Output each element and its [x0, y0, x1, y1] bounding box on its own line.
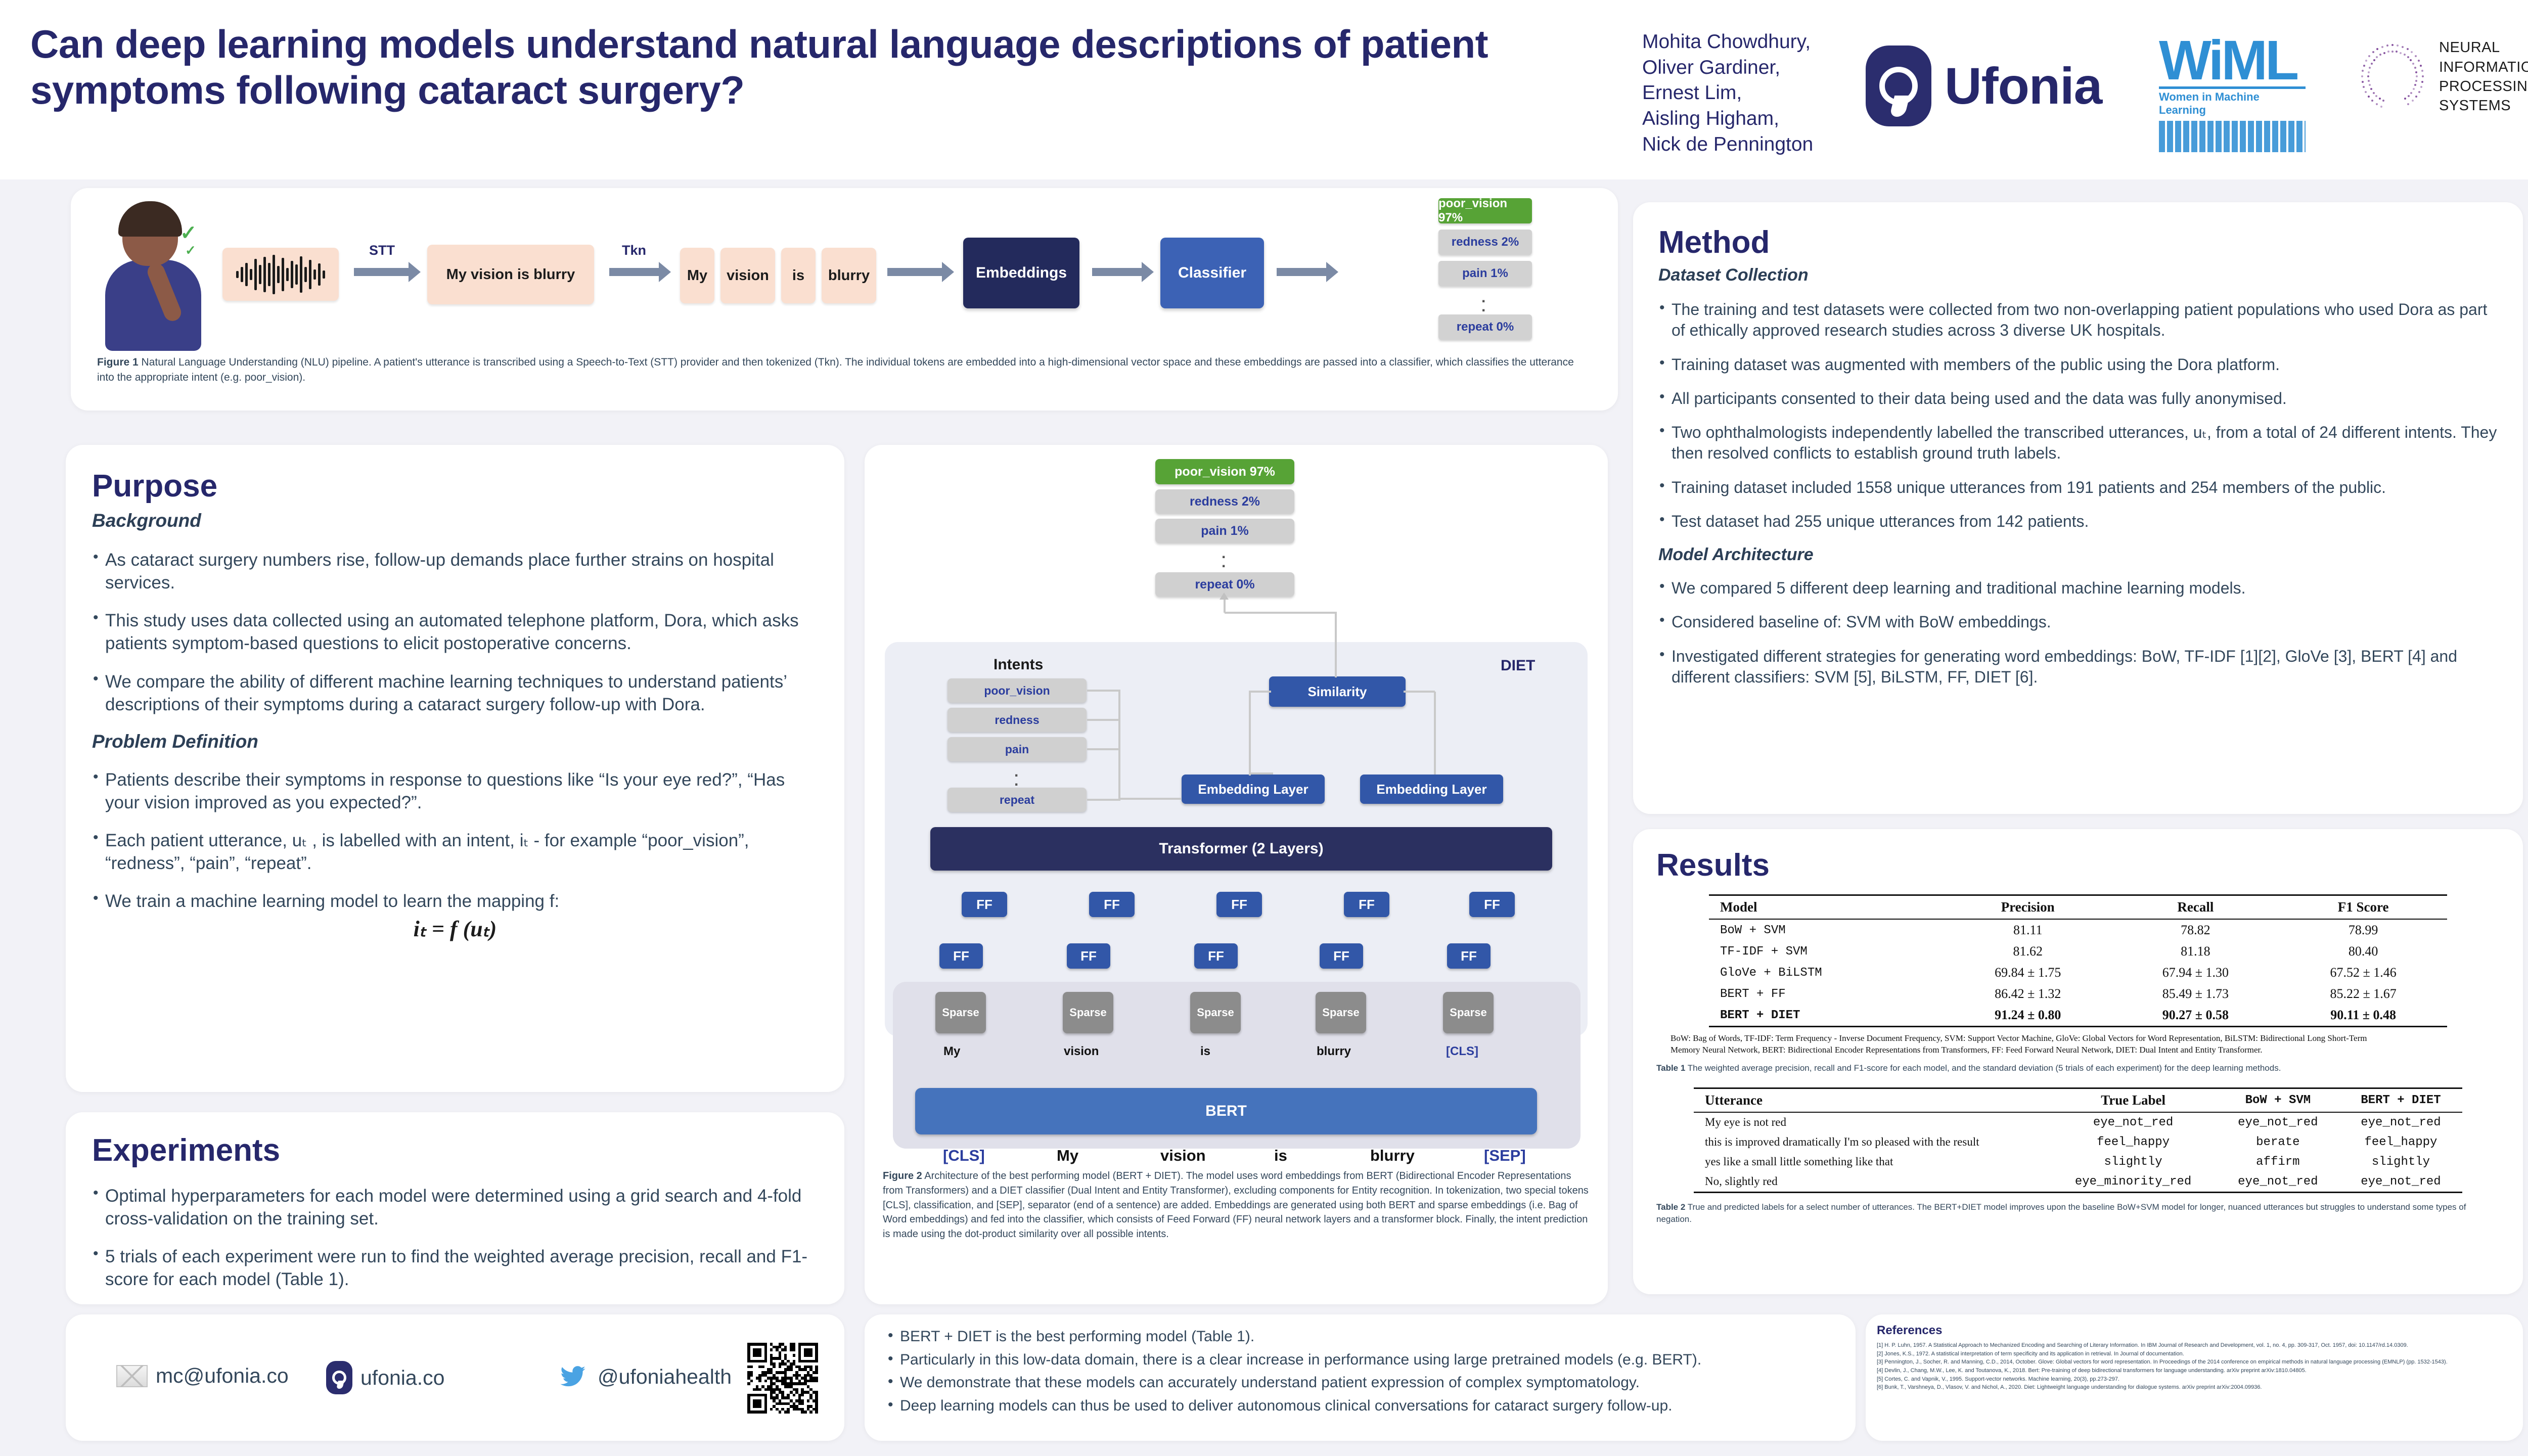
ff-box: FF: [1067, 943, 1110, 969]
sparse-box: Sparse: [935, 992, 986, 1033]
cell-bow-pred: eye_not_red: [2217, 1112, 2339, 1132]
table-row: My eye is not red eye_not_red eye_not_re…: [1694, 1112, 2462, 1132]
cell-f1: 80.40: [2279, 941, 2447, 962]
table-row: TF-IDF + SVM 81.62 81.18 80.40: [1709, 941, 2447, 962]
sparse-box: Sparse: [1190, 992, 1241, 1033]
mid-token-label: vision: [1064, 1044, 1099, 1059]
th-f1: F1 Score: [2279, 895, 2447, 920]
th-true-label: True Label: [2050, 1088, 2217, 1112]
experiments-card: Experiments Optimal hyperparameters for …: [66, 1112, 844, 1304]
model-architecture-heading: Model Architecture: [1658, 545, 2498, 565]
author-list: Mohita Chowdhury, Oliver Gardiner, Ernes…: [1642, 29, 1855, 157]
cell-precision: 81.11: [1944, 919, 2112, 941]
table1-caption-text: The weighted average precision, recall a…: [1688, 1063, 2281, 1073]
table2-caption-text: True and predicted labels for a select n…: [1656, 1202, 2466, 1224]
ff-box: FF: [1216, 892, 1262, 917]
list-item: BERT + DIET is the best performing model…: [887, 1328, 1833, 1346]
reference-item: [1] H. P. Luhn, 1957. A Statistical Appr…: [1877, 1342, 2512, 1349]
figure1-diagram: ✓ ✓ STT My vision is blurry Tkn My visio…: [71, 188, 1618, 355]
th-utterance: Utterance: [1694, 1088, 2050, 1112]
intent-result-box: pain 1%: [1155, 519, 1294, 543]
neurips-wordmark: NEURAL INFORMATION PROCESSING SYSTEMS: [2439, 38, 2528, 115]
list-item: Considered baseline of: SVM with BoW emb…: [1658, 612, 2498, 632]
wiml-pattern-icon: [2159, 121, 2306, 152]
classifier-box: Classifier: [1160, 238, 1264, 308]
th-recall: Recall: [2112, 895, 2280, 920]
th-bert-diet: BERT + DIET: [2339, 1088, 2462, 1112]
reference-item: [6] Bunk, T., Varshneya, D., Vlasov, V. …: [1877, 1384, 2512, 1391]
cell-recall: 78.82: [2112, 919, 2280, 941]
mapping-formula: iₜ = f (uₜ): [92, 916, 818, 942]
list-item: The training and test datasets were coll…: [1658, 299, 2498, 341]
method-card: Method Dataset Collection The training a…: [1633, 202, 2523, 814]
table-row: BERT + DIET 91.24 ± 0.80 90.27 ± 0.58 90…: [1709, 1005, 2447, 1027]
intent-result-box: poor_vision 97%: [1155, 459, 1294, 484]
twitter-bird-icon: [556, 1363, 590, 1390]
background-bullets: As cataract surgery numbers rise, follow…: [92, 549, 818, 716]
figure1-caption: Figure 1 Natural Language Understanding …: [97, 355, 1594, 385]
patient-illustration-icon: ✓ ✓: [91, 203, 217, 350]
intent-box: redness: [947, 708, 1087, 732]
author-line: Mohita Chowdhury,: [1642, 29, 1855, 55]
arrow-tkn: [609, 268, 660, 276]
twitter-contact[interactable]: @ufoniahealth: [556, 1363, 732, 1390]
dataset-bullets: The training and test datasets were coll…: [1658, 299, 2498, 532]
table-row: BERT + FF 86.42 ± 1.32 85.49 ± 1.73 85.2…: [1709, 983, 2447, 1005]
experiments-title: Experiments: [92, 1132, 818, 1168]
cell-f1: 67.52 ± 1.46: [2279, 962, 2447, 983]
figure2-diagram: poor_vision 97% redness 2% pain 1% ... r…: [865, 445, 1608, 1163]
ff-box: FF: [1344, 892, 1389, 917]
intent-result-box: pain 1%: [1438, 261, 1532, 286]
table2-caption: Table 2 True and predicted labels for a …: [1656, 1201, 2486, 1225]
neurips-dots-icon: [2356, 31, 2432, 122]
figure1-caption-text: Natural Language Understanding (NLU) pip…: [97, 356, 1574, 383]
figure2-caption-label: Figure 2: [883, 1170, 922, 1181]
table-row: this is improved dramatically I'm so ple…: [1694, 1132, 2462, 1152]
transcript-box: My vision is blurry: [427, 245, 594, 304]
cell-f1: 78.99: [2279, 919, 2447, 941]
list-item: We compare the ability of different mach…: [92, 670, 818, 716]
table1-caption-label: Table 1: [1656, 1063, 1685, 1073]
intent-box: repeat: [947, 788, 1087, 812]
intent-box: poor_vision: [947, 678, 1087, 703]
cell-precision: 86.42 ± 1.32: [1944, 983, 2112, 1005]
embedding-layer-left: Embedding Layer: [1182, 775, 1325, 804]
input-token: [CLS]: [943, 1147, 985, 1165]
cell-utterance: My eye is not red: [1694, 1112, 2050, 1132]
email-contact[interactable]: mc@ufonia.co: [116, 1364, 289, 1388]
input-token: blurry: [1370, 1147, 1415, 1165]
list-item: Training dataset included 1558 unique ut…: [1658, 477, 2498, 498]
cell-true-label: slightly: [2050, 1152, 2217, 1172]
cell-bow-pred: berate: [2217, 1132, 2339, 1152]
page-title: Can deep learning models understand natu…: [30, 21, 1618, 114]
arrow-to-embeddings: [887, 268, 943, 276]
ufonia-wordmark: Ufonia: [1945, 57, 2102, 116]
th-bow-svm: BoW + SVM: [2217, 1088, 2339, 1112]
wiml-wordmark: WiML: [2159, 36, 2306, 85]
website-contact[interactable]: ufonia.co: [326, 1361, 444, 1394]
results-table-1: Model Precision Recall F1 Score BoW + SV…: [1709, 894, 2447, 1027]
th-precision: Precision: [1944, 895, 2112, 920]
cell-recall: 90.27 ± 0.58: [2112, 1005, 2280, 1027]
table-row: GloVe + BiLSTM 69.84 ± 1.75 67.94 ± 1.30…: [1709, 962, 2447, 983]
cell-precision: 69.84 ± 1.75: [1944, 962, 2112, 983]
table-row: No, slightly red eye_minority_red eye_no…: [1694, 1172, 2462, 1193]
poster-header: Can deep learning models understand natu…: [0, 0, 2528, 179]
background-heading: Background: [92, 510, 818, 531]
mid-token-label: [CLS]: [1446, 1044, 1478, 1059]
neurips-line: PROCESSING: [2439, 77, 2528, 96]
cell-true-label: eye_not_red: [2050, 1112, 2217, 1132]
cell-bert-pred: eye_not_red: [2339, 1112, 2462, 1132]
cell-utterance: No, slightly red: [1694, 1172, 2050, 1193]
list-item: Optimal hyperparameters for each model w…: [92, 1185, 818, 1230]
qr-code[interactable]: [747, 1343, 818, 1414]
ufonia-speech-bubble-icon: [1866, 45, 1931, 126]
cell-model: BERT + DIET: [1709, 1005, 1944, 1027]
table-row: BoW + SVM 81.11 78.82 78.99: [1709, 919, 2447, 941]
table1-caption: Table 1 The weighted average precision, …: [1656, 1062, 2455, 1074]
purpose-title: Purpose: [92, 468, 818, 504]
ff-box: FF: [1320, 943, 1363, 969]
input-token: vision: [1160, 1147, 1206, 1165]
list-item: Investigated different strategies for ge…: [1658, 646, 2498, 688]
tkn-label: Tkn: [622, 243, 646, 258]
sparse-box: Sparse: [1063, 992, 1113, 1033]
th-model: Model: [1709, 895, 1944, 920]
cell-bow-pred: affirm: [2217, 1152, 2339, 1172]
dataset-collection-heading: Dataset Collection: [1658, 265, 2498, 285]
transformer-box: Transformer (2 Layers): [930, 827, 1552, 871]
list-item: Training dataset was augmented with memb…: [1658, 354, 2498, 375]
cell-utterance: this is improved dramatically I'm so ple…: [1694, 1132, 2050, 1152]
arrow-stt: [354, 268, 410, 276]
mid-token-label: My: [943, 1044, 960, 1059]
architecture-bullets: We compared 5 different deep learning an…: [1658, 578, 2498, 688]
arrow-to-outputs: [1277, 268, 1327, 276]
list-item: Test dataset had 255 unique utterances f…: [1658, 511, 2498, 532]
problem-definition-heading: Problem Definition: [92, 731, 818, 752]
cell-recall: 67.94 ± 1.30: [2112, 962, 2280, 983]
bert-box: BERT: [915, 1088, 1537, 1134]
cell-precision: 81.62: [1944, 941, 2112, 962]
list-item: All participants consented to their data…: [1658, 388, 2498, 409]
input-token: [SEP]: [1484, 1147, 1526, 1165]
references-title: References: [1877, 1324, 2512, 1338]
ufonia-icon: [326, 1361, 352, 1394]
ff-box: FF: [1447, 943, 1491, 969]
neurips-line: SYSTEMS: [2439, 96, 2528, 115]
diet-label: DIET: [1501, 657, 1535, 674]
token-box: My: [680, 248, 714, 303]
intents-label: Intents: [994, 656, 1043, 673]
token-box: vision: [720, 248, 775, 303]
figure1-card: ✓ ✓ STT My vision is blurry Tkn My visio…: [71, 188, 1618, 411]
intent-result-box: repeat 0%: [1438, 314, 1532, 340]
author-line: Aisling Higham,: [1642, 106, 1855, 132]
list-item: 5 trials of each experiment were run to …: [92, 1245, 818, 1291]
input-token: is: [1274, 1147, 1287, 1165]
intent-result-box: redness 2%: [1155, 489, 1294, 514]
cell-model: BoW + SVM: [1709, 919, 1944, 941]
website-text: ufonia.co: [360, 1366, 444, 1390]
sparse-box: Sparse: [1316, 992, 1366, 1033]
author-line: Oliver Gardiner,: [1642, 55, 1855, 81]
audio-waveform-box: [222, 248, 339, 301]
ff-box: FF: [1089, 892, 1135, 917]
cell-bow-pred: eye_not_red: [2217, 1172, 2339, 1193]
list-item: As cataract surgery numbers rise, follow…: [92, 549, 818, 594]
similarity-box: Similarity: [1269, 676, 1406, 707]
ff-box: FF: [962, 892, 1007, 917]
list-item: Particularly in this low-data domain, th…: [887, 1351, 1833, 1370]
table2-caption-label: Table 2: [1656, 1202, 1685, 1212]
envelope-icon: [116, 1365, 148, 1387]
reference-item: [5] Cortes, C. and Vapnik, V., 1995. Sup…: [1877, 1376, 2512, 1383]
cell-precision: 91.24 ± 0.80: [1944, 1005, 2112, 1027]
ufonia-logo: Ufonia: [1866, 45, 2102, 126]
stt-label: STT: [369, 243, 395, 258]
cell-bert-pred: eye_not_red: [2339, 1172, 2462, 1193]
method-title: Method: [1658, 224, 2498, 260]
figure2-card: poor_vision 97% redness 2% pain 1% ... r…: [865, 445, 1608, 1304]
embedding-layer-right: Embedding Layer: [1360, 775, 1503, 804]
mid-token-label: is: [1200, 1044, 1210, 1059]
cell-bert-pred: feel_happy: [2339, 1132, 2462, 1152]
list-item: We train a machine learning model to lea…: [92, 890, 818, 913]
list-item: Each patient utterance, uₜ , is labelled…: [92, 829, 818, 875]
token-box: is: [781, 248, 816, 303]
cell-model: GloVe + BiLSTM: [1709, 962, 1944, 983]
references-list: [1] H. P. Luhn, 1957. A Statistical Appr…: [1877, 1342, 2512, 1391]
cell-recall: 85.49 ± 1.73: [2112, 983, 2280, 1005]
references-card: References [1] H. P. Luhn, 1957. A Stati…: [1866, 1314, 2523, 1441]
list-item: Two ophthalmologists independently label…: [1658, 422, 2498, 464]
neurips-logo: NEURAL INFORMATION PROCESSING SYSTEMS: [2356, 31, 2528, 122]
neurips-line: INFORMATION: [2439, 58, 2528, 77]
author-line: Ernest Lim,: [1642, 80, 1855, 106]
token-box: blurry: [822, 248, 876, 303]
email-text: mc@ufonia.co: [156, 1364, 289, 1388]
reference-item: [3] Pennington, J., Socher, R. and Manni…: [1877, 1358, 2512, 1366]
list-item: We compared 5 different deep learning an…: [1658, 578, 2498, 599]
list-item: Deep learning models can thus be used to…: [887, 1397, 1833, 1416]
results-title: Results: [1656, 847, 2500, 883]
conclusion-card: BERT + DIET is the best performing model…: [865, 1314, 1856, 1441]
purpose-card: Purpose Background As cataract surgery n…: [66, 445, 844, 1092]
figure1-caption-label: Figure 1: [97, 356, 139, 368]
contact-card: mc@ufonia.co ufonia.co @ufoniahealth: [66, 1314, 844, 1441]
input-token: My: [1057, 1147, 1078, 1165]
list-item: This study uses data collected using an …: [92, 609, 818, 655]
conclusion-bullets: BERT + DIET is the best performing model…: [887, 1328, 1833, 1415]
table-row: yes like a small little something like t…: [1694, 1152, 2462, 1172]
neurips-line: NEURAL: [2439, 38, 2528, 57]
intent-box: pain: [947, 737, 1087, 761]
table1-note: BoW: Bag of Words, TF-IDF: Term Frequenc…: [1671, 1032, 2394, 1056]
cell-utterance: yes like a small little something like t…: [1694, 1152, 2050, 1172]
sparse-box: Sparse: [1443, 992, 1494, 1033]
experiments-bullets: Optimal hyperparameters for each model w…: [92, 1185, 818, 1291]
cell-true-label: feel_happy: [2050, 1132, 2217, 1152]
arrow-to-classifier: [1092, 268, 1143, 276]
cell-f1: 90.11 ± 0.48: [2279, 1005, 2447, 1027]
cell-model: BERT + FF: [1709, 983, 1944, 1005]
cell-model: TF-IDF + SVM: [1709, 941, 1944, 962]
ff-box: FF: [1194, 943, 1238, 969]
intent-result-box: redness 2%: [1438, 230, 1532, 255]
twitter-handle-text: @ufoniahealth: [598, 1365, 732, 1389]
reference-item: [4] Devlin, J., Chang, M.W., Lee, K. and…: [1877, 1367, 2512, 1375]
list-item: We demonstrate that these models can acc…: [887, 1374, 1833, 1392]
figure2-caption: Figure 2 Architecture of the best perfor…: [883, 1169, 1591, 1242]
cell-true-label: eye_minority_red: [2050, 1172, 2217, 1193]
problem-bullets: Patients describe their symptoms in resp…: [92, 768, 818, 913]
cell-f1: 85.22 ± 1.67: [2279, 983, 2447, 1005]
list-item: Patients describe their symptoms in resp…: [92, 768, 818, 814]
cell-recall: 81.18: [2112, 941, 2280, 962]
wiml-logo: WiML Women in Machine Learning: [2159, 36, 2306, 152]
cell-bert-pred: slightly: [2339, 1152, 2462, 1172]
embeddings-box: Embeddings: [963, 238, 1079, 308]
reference-item: [2] Jones, K.S., 1972. A statistical int…: [1877, 1350, 2512, 1358]
results-card: Results Model Precision Recall F1 Score …: [1633, 829, 2523, 1294]
ff-box: FF: [1469, 892, 1515, 917]
intent-result-box: poor_vision 97%: [1438, 198, 1532, 223]
mid-token-label: blurry: [1317, 1044, 1351, 1059]
figure2-caption-text: Architecture of the best performing mode…: [883, 1170, 1589, 1240]
ff-box: FF: [939, 943, 983, 969]
author-line: Nick de Pennington: [1642, 132, 1855, 158]
results-table-2: Utterance True Label BoW + SVM BERT + DI…: [1694, 1087, 2462, 1193]
